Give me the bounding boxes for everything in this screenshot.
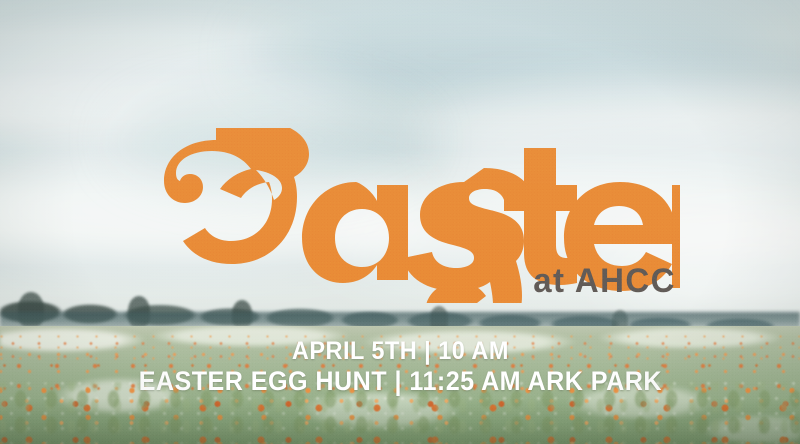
event-details-block: APRIL 5TH | 10 AM EASTER EGG HUNT | 11:2… xyxy=(0,338,800,395)
ground-shadow xyxy=(0,398,800,444)
easter-service-poster: at AHCC APRIL 5TH | 10 AM EASTER EGG HUN… xyxy=(0,0,800,444)
cloud-shape xyxy=(120,95,420,185)
detail-line-egg-hunt: EASTER EGG HUNT | 11:25 AM ARK PARK xyxy=(138,367,661,396)
detail-line-date-time: APRIL 5TH | 10 AM xyxy=(292,338,509,365)
